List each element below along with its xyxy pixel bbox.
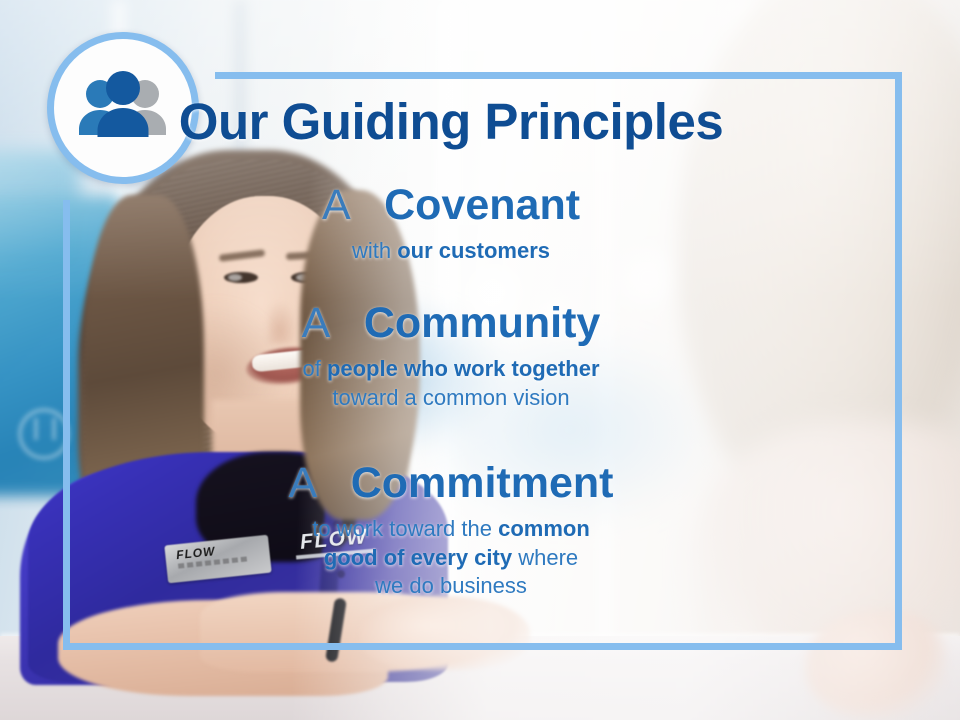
principle-keyword: Covenant	[384, 181, 580, 229]
principle-article: A	[289, 459, 315, 507]
principle-article: A	[302, 299, 328, 347]
guiding-principles-banner: FLOW FLOW	[0, 0, 960, 720]
page-title: Our Guiding Principles	[0, 96, 902, 147]
principle-article: A	[322, 181, 348, 229]
principle-description-line: with our customers	[0, 237, 902, 266]
principle-description-line: to work toward the common	[0, 515, 902, 544]
principle-heading: A Covenant	[0, 184, 902, 227]
principle-commitment: A Commitment to work toward the commongo…	[0, 462, 902, 601]
principle-description-line: of people who work together	[0, 355, 902, 384]
principle-keyword: Commitment	[351, 459, 614, 507]
frame-border-top	[215, 72, 902, 79]
principle-description: of people who work togethertoward a comm…	[0, 355, 902, 412]
principle-description-line: we do business	[0, 572, 902, 601]
principle-description-line: good of every city where	[0, 544, 902, 573]
principle-description-line: toward a common vision	[0, 384, 902, 413]
principle-description: to work toward the commongood of every c…	[0, 515, 902, 601]
principle-community: A Community of people who work togethert…	[0, 302, 902, 412]
principle-heading: A Community	[0, 302, 902, 345]
principle-keyword: Community	[364, 299, 601, 347]
frame-border-bottom	[63, 643, 902, 650]
principle-covenant: A Covenant with our customers	[0, 184, 902, 266]
principle-heading: A Commitment	[0, 462, 902, 505]
principle-description: with our customers	[0, 237, 902, 266]
